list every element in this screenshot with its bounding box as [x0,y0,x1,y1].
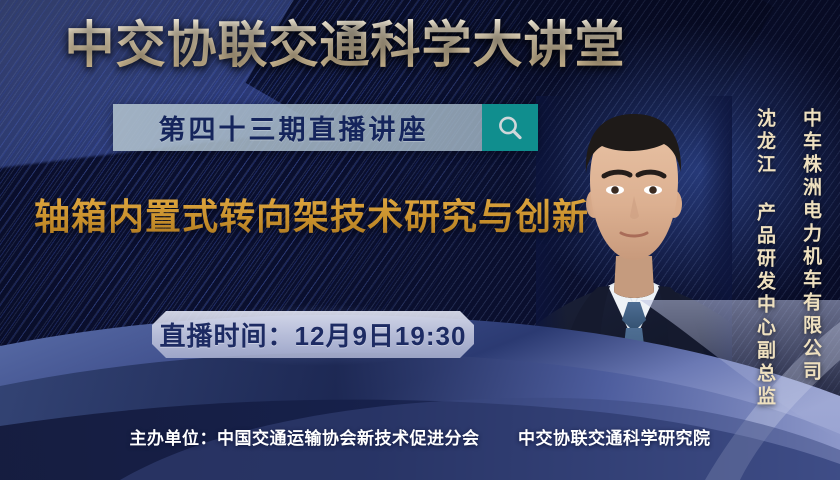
lecture-title: 轴箱内置式转向架技术研究与创新 [34,194,589,240]
schedule-text: 直播时间：12月9日19:30 [160,316,467,353]
speaker-name-title: 沈龙江 产品研发中心副总监 [751,108,778,409]
footer-organizers: 主办单位：中国交通运输协会新技术促进分会 中交协联交通科学研究院 [0,424,840,449]
live-lecture-poster: 中交协联交通科学大讲堂 第四十三期直播讲座 轴箱内置式转向架技术研究与创新 直播… [0,0,840,480]
schedule-badge: 直播时间：12月9日19:30 [152,311,474,358]
speaker-company: 中车株洲电力机车有限公司 [797,108,824,384]
search-button[interactable] [482,104,538,151]
search-icon [495,113,525,143]
footer-institute-text: 中交协联交通科学研究院 [518,429,711,448]
page-title: 中交协联交通科学大讲堂 [0,16,690,74]
episode-label: 第四十三期直播讲座 [113,104,482,151]
episode-search-bar[interactable]: 第四十三期直播讲座 [113,104,538,151]
footer-host-text: 主办单位：中国交通运输协会新技术促进分会 [130,429,480,448]
